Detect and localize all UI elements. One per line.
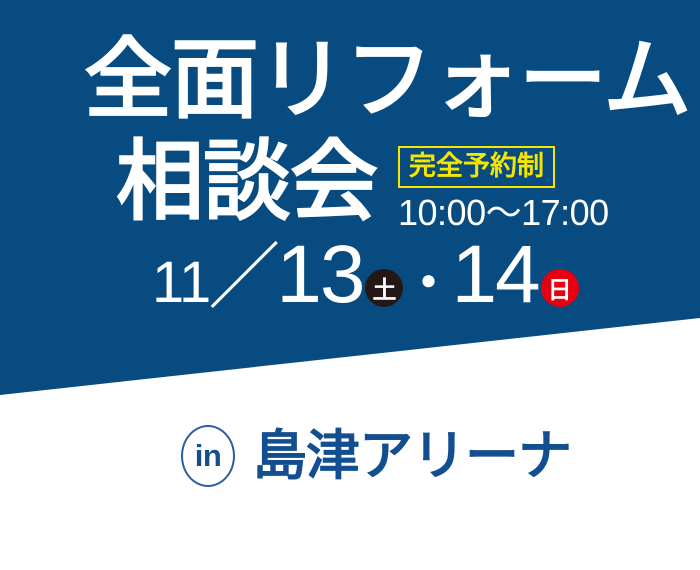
date-month: 11 (152, 254, 210, 312)
date-separator-slash: ／ (208, 248, 280, 306)
venue-name: 島津アリーナ (253, 426, 571, 486)
day-of-week-saturday-badge: 土 (365, 269, 403, 307)
event-time-range: 10:00〜17:00 (398, 193, 598, 233)
event-date-row: 11 ／ 13 土 ・ 14 日 (152, 246, 579, 330)
date-day-first: 13 (276, 246, 363, 304)
event-banner: 全面リフォーム 相談会 完全予約制 10:00〜17:00 11 ／ 13 土 … (0, 0, 700, 570)
venue-row: in 島津アリーナ (181, 425, 571, 487)
date-day-second: 14 (451, 246, 538, 304)
date-middle-dot: ・ (403, 254, 453, 312)
day-of-week-sunday-badge: 日 (541, 269, 579, 307)
in-circle-icon: in (181, 425, 235, 487)
reservation-block: 完全予約制 10:00〜17:00 (398, 146, 598, 233)
reservation-required-badge: 完全予約制 (398, 146, 555, 188)
headline-line-1: 全面リフォーム (84, 31, 690, 129)
headline-line-2: 相談会 (116, 133, 377, 231)
